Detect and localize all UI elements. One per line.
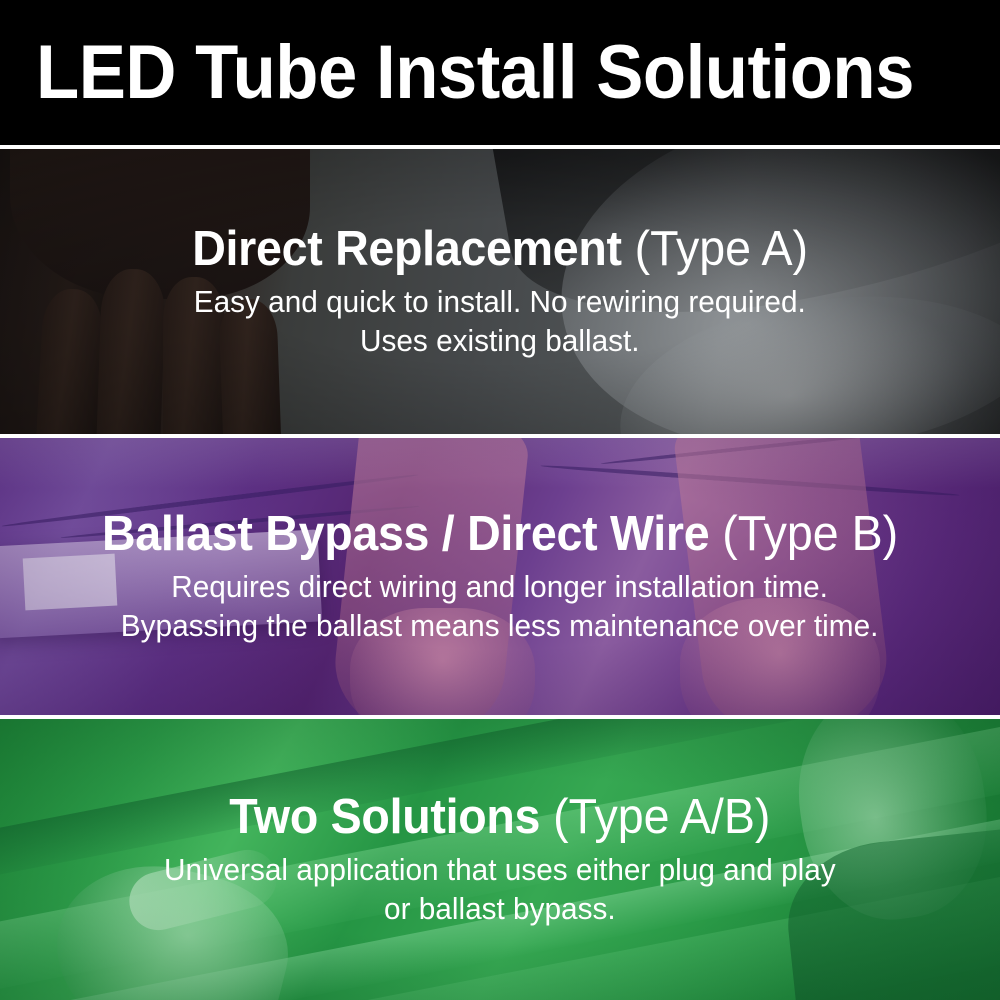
- panel-type-ab-body: Universal application that uses either p…: [164, 851, 836, 929]
- panel-type-a-title-bold: Direct Replacement: [192, 222, 622, 276]
- panel-type-a-content: Direct Replacement (Type A) Easy and qui…: [0, 149, 1000, 434]
- panel-type-b-body-line-2: Bypassing the ballast means less mainten…: [121, 607, 879, 646]
- panel-type-ab-content: Two Solutions (Type A/B) Universal appli…: [0, 719, 1000, 1000]
- panel-type-b-title: Ballast Bypass / Direct Wire (Type B): [102, 507, 898, 562]
- panel-type-ab-title-bold: Two Solutions: [229, 790, 540, 844]
- panel-type-ab: Two Solutions (Type A/B) Universal appli…: [0, 719, 1000, 1000]
- panel-type-b-title-type: (Type B): [722, 507, 898, 561]
- divider-panel2-panel3: [0, 715, 1000, 719]
- divider-header-panel1: [0, 145, 1000, 149]
- panel-type-ab-body-line-2: or ballast bypass.: [164, 890, 836, 929]
- panel-type-a-title: Direct Replacement (Type A): [192, 222, 808, 277]
- panel-type-a-title-type: (Type A): [635, 222, 808, 276]
- page-title: LED Tube Install Solutions: [36, 35, 914, 111]
- divider-panel1-panel2: [0, 434, 1000, 438]
- led-tube-install-infographic: LED Tube Install Solutions Direct Replac…: [0, 0, 1000, 1000]
- panel-type-b-body-line-1: Requires direct wiring and longer instal…: [121, 568, 879, 607]
- panel-type-b-content: Ballast Bypass / Direct Wire (Type B) Re…: [0, 438, 1000, 715]
- panel-type-a-body: Easy and quick to install. No rewiring r…: [194, 283, 806, 361]
- panel-type-b: Ballast Bypass / Direct Wire (Type B) Re…: [0, 438, 1000, 715]
- panel-type-b-title-bold: Ballast Bypass / Direct Wire: [102, 507, 709, 561]
- panel-type-ab-body-line-1: Universal application that uses either p…: [164, 851, 836, 890]
- header-bar: LED Tube Install Solutions: [0, 0, 1000, 145]
- panel-type-ab-title: Two Solutions (Type A/B): [229, 790, 770, 845]
- panel-type-a: Direct Replacement (Type A) Easy and qui…: [0, 149, 1000, 434]
- panel-type-a-body-line-1: Easy and quick to install. No rewiring r…: [194, 283, 806, 322]
- panel-type-b-body: Requires direct wiring and longer instal…: [121, 568, 879, 646]
- panel-type-ab-title-type: (Type A/B): [553, 790, 770, 844]
- panel-type-a-body-line-2: Uses existing ballast.: [194, 322, 806, 361]
